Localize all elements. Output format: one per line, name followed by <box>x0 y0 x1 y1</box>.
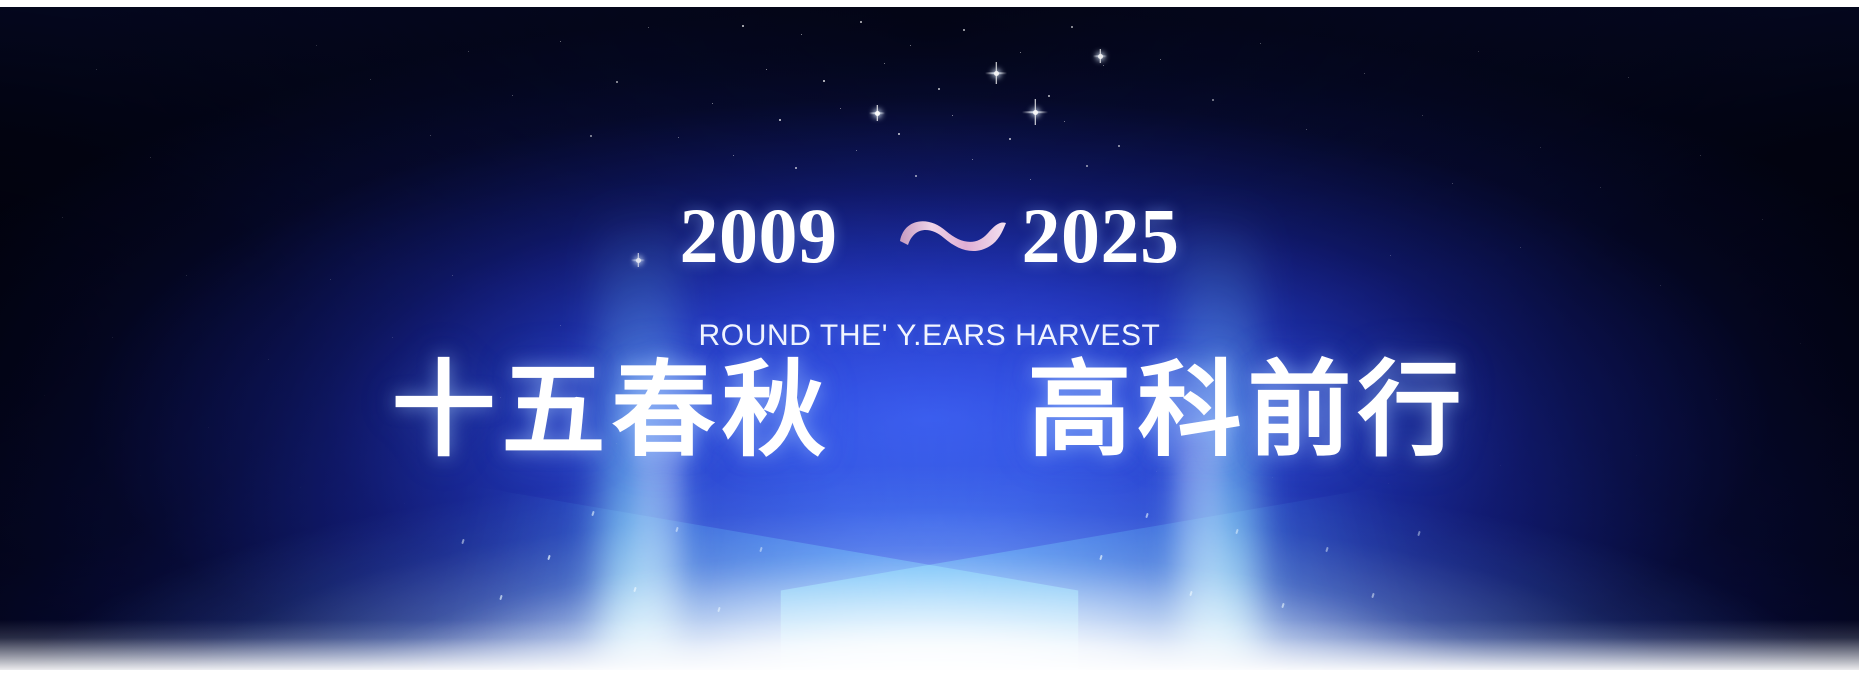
anniversary-banner: 2009 2025 <box>0 0 1859 680</box>
banner-content: 2009 2025 <box>0 7 1859 670</box>
sparkle-star <box>1022 99 1048 125</box>
bottom-letterbox-strip <box>0 670 1859 680</box>
night-sky-stage: 2009 2025 <box>0 7 1859 670</box>
sparkle-star <box>985 62 1007 84</box>
sparkle-star <box>869 105 885 121</box>
headline-left: 十五春秋 <box>391 347 831 474</box>
headline-right: 高科前行 <box>1028 347 1468 474</box>
wave-tilde-icon <box>894 207 1012 265</box>
year-from: 2009 <box>680 197 838 275</box>
year-to: 2025 <box>1022 197 1180 275</box>
bottom-white-fade <box>0 600 1859 670</box>
top-letterbox-strip <box>0 0 1859 7</box>
headline-row: 十五春秋 高科前行 <box>0 347 1859 474</box>
year-range: 2009 2025 <box>0 192 1859 280</box>
sparkle-star <box>1093 49 1107 63</box>
